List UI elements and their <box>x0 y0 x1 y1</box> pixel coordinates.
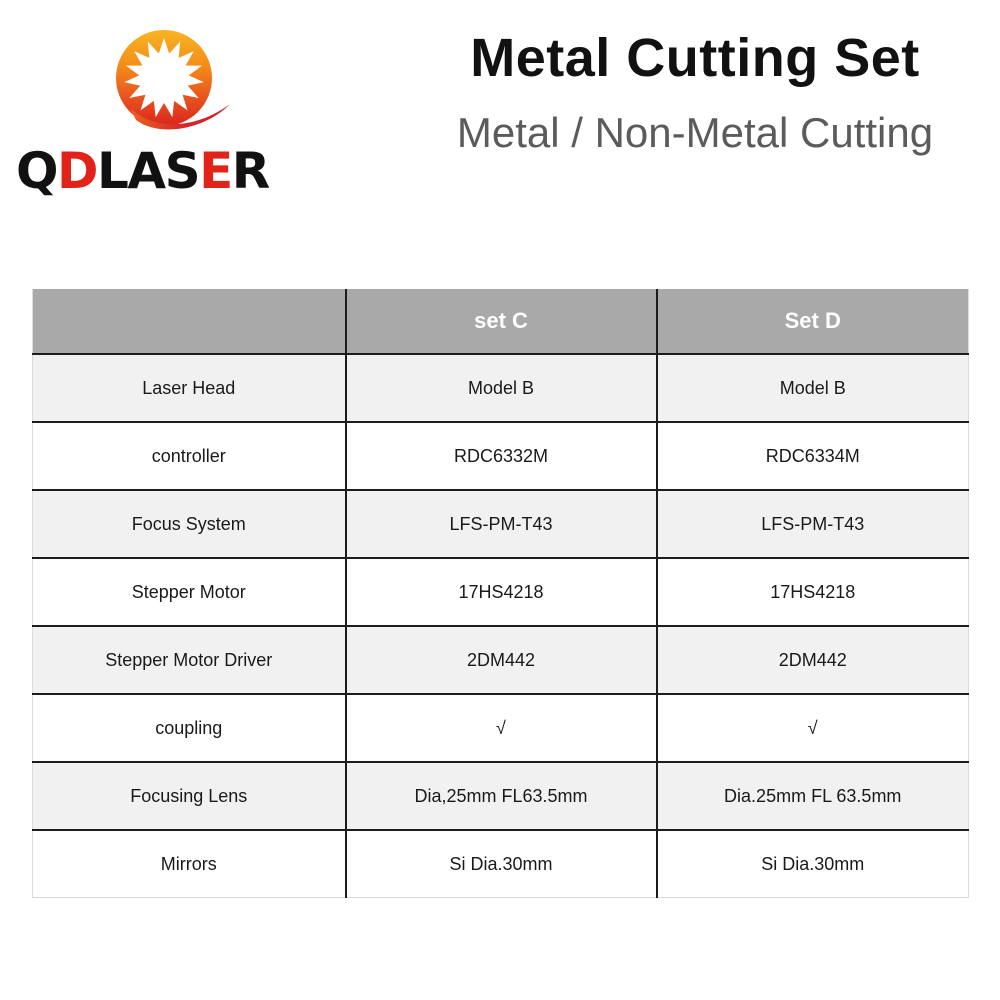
wordmark-part-q: Q <box>16 142 57 200</box>
brand-block: QDLASER <box>8 10 388 210</box>
page-title: Metal Cutting Set <box>400 26 990 90</box>
row-value-set-d: Model B <box>657 354 969 422</box>
spec-table-container: set C Set D Laser Head Model B Model B c… <box>32 289 968 898</box>
wordmark-part-e: E <box>199 142 232 200</box>
row-value-set-c: Dia,25mm FL63.5mm <box>346 762 657 830</box>
row-label: Mirrors <box>33 830 346 898</box>
row-value-set-c: LFS-PM-T43 <box>346 490 657 558</box>
sun-swoosh-logo-icon <box>108 28 240 140</box>
table-row: Laser Head Model B Model B <box>33 354 969 422</box>
row-value-set-d: Dia.25mm FL 63.5mm <box>657 762 969 830</box>
column-header-label <box>33 289 346 354</box>
row-label: coupling <box>33 694 346 762</box>
spec-table-body: Laser Head Model B Model B controller RD… <box>33 354 969 898</box>
table-row: Focusing Lens Dia,25mm FL63.5mm Dia.25mm… <box>33 762 969 830</box>
wordmark-part-d: D <box>57 142 97 200</box>
row-label: Stepper Motor Driver <box>33 626 346 694</box>
column-header-set-c: set C <box>346 289 657 354</box>
table-row: Stepper Motor Driver 2DM442 2DM442 <box>33 626 969 694</box>
row-value-set-c: 17HS4218 <box>346 558 657 626</box>
wordmark-part-las: LAS <box>97 142 199 200</box>
row-label: Stepper Motor <box>33 558 346 626</box>
row-value-set-c: √ <box>346 694 657 762</box>
row-label: controller <box>33 422 346 490</box>
page-subtitle: Metal / Non-Metal Cutting <box>400 108 990 158</box>
row-label: Laser Head <box>33 354 346 422</box>
table-row: coupling √ √ <box>33 694 969 762</box>
table-header-row: set C Set D <box>33 289 969 354</box>
row-value-set-d: Si Dia.30mm <box>657 830 969 898</box>
table-row: Mirrors Si Dia.30mm Si Dia.30mm <box>33 830 969 898</box>
row-value-set-c: Model B <box>346 354 657 422</box>
table-row: Focus System LFS-PM-T43 LFS-PM-T43 <box>33 490 969 558</box>
row-value-set-d: RDC6334M <box>657 422 969 490</box>
qdlaser-wordmark: QDLASER <box>16 143 346 199</box>
title-block: Metal Cutting Set Metal / Non-Metal Cutt… <box>400 26 990 158</box>
row-label: Focus System <box>33 490 346 558</box>
wordmark-part-r: R <box>232 142 269 200</box>
page-header: QDLASER Metal Cutting Set Metal / Non-Me… <box>0 0 1000 260</box>
row-value-set-d: 2DM442 <box>657 626 969 694</box>
row-label: Focusing Lens <box>33 762 346 830</box>
row-value-set-d: √ <box>657 694 969 762</box>
table-row: controller RDC6332M RDC6334M <box>33 422 969 490</box>
row-value-set-d: LFS-PM-T43 <box>657 490 969 558</box>
table-row: Stepper Motor 17HS4218 17HS4218 <box>33 558 969 626</box>
spec-table: set C Set D Laser Head Model B Model B c… <box>32 289 969 898</box>
row-value-set-c: RDC6332M <box>346 422 657 490</box>
row-value-set-d: 17HS4218 <box>657 558 969 626</box>
row-value-set-c: Si Dia.30mm <box>346 830 657 898</box>
row-value-set-c: 2DM442 <box>346 626 657 694</box>
column-header-set-d: Set D <box>657 289 969 354</box>
